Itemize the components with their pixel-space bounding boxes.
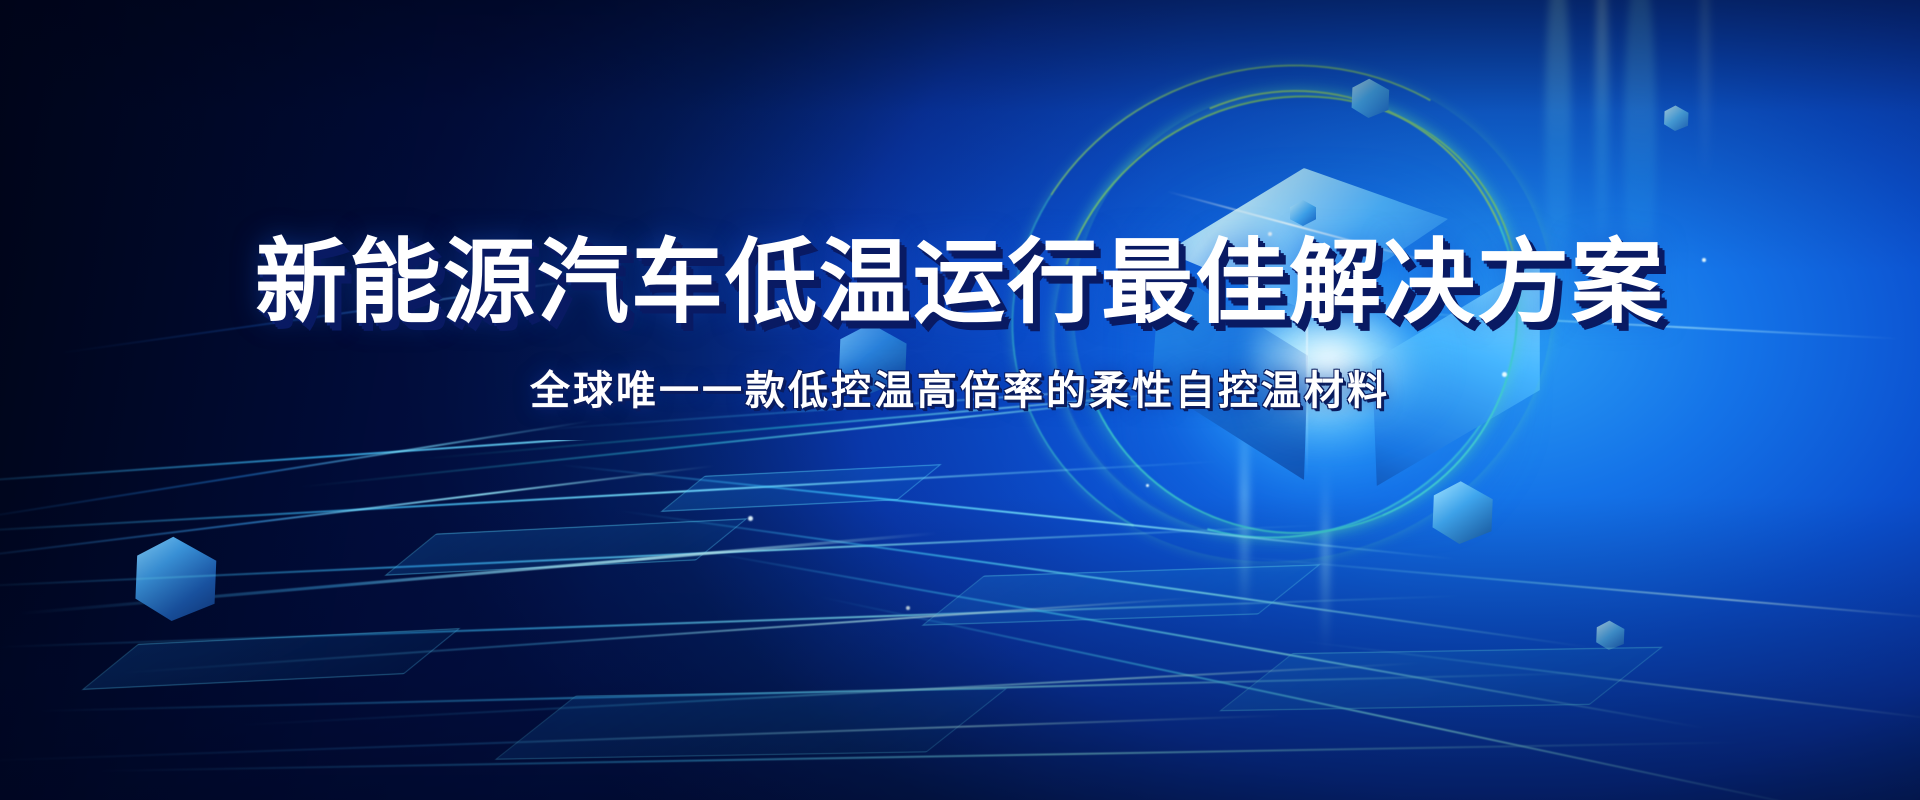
page-subtitle: 全球唯一一款低控温高倍率的柔性自控温材料 (0, 358, 1920, 416)
page-title: 新能源汽车低温运行最佳解决方案 (0, 236, 1920, 332)
hero-text-block: 新能源汽车低温运行最佳解决方案 全球唯一一款低控温高倍率的柔性自控温材料 (0, 236, 1920, 416)
hero-banner: 新能源汽车低温运行最佳解决方案 全球唯一一款低控温高倍率的柔性自控温材料 (0, 0, 1920, 800)
